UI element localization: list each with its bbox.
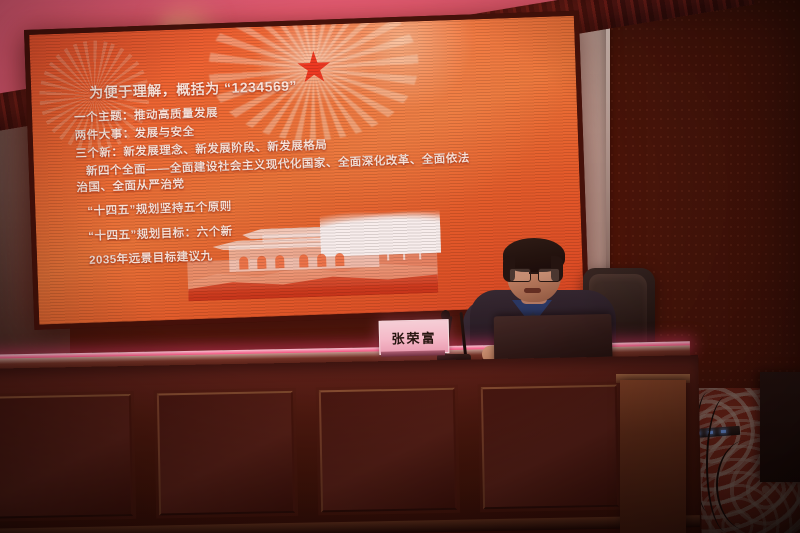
eyeglasses-icon	[508, 268, 560, 280]
conference-hall-photo: 为便于理解，概括为 “1234569” 一个主题：推动高质量发展 两件大事：发展…	[0, 0, 800, 533]
slide-text-block: 为便于理解，概括为 “1234569” 一个主题：推动高质量发展 两件大事：发展…	[29, 16, 584, 325]
glasses-bridge	[529, 272, 538, 274]
slide-line-6: “十四五”规划坚持五个原则	[87, 198, 232, 219]
podium-panel	[319, 388, 457, 513]
podium-panel	[157, 391, 295, 516]
led-screen-frame: 为便于理解，概括为 “1234569” 一个主题：推动高质量发展 两件大事：发展…	[24, 11, 589, 330]
side-cabinet	[620, 380, 686, 533]
name-placard-text: 张荣富	[391, 327, 436, 347]
lens-left	[509, 268, 531, 282]
cable	[716, 440, 778, 530]
slide-line-1: 一个主题：推动高质量发展	[74, 104, 218, 125]
speaker-mouth	[524, 288, 541, 293]
slide-line-7: “十四五”规划目标：六个新	[88, 223, 233, 244]
lens-right	[538, 268, 560, 282]
slide-title: 为便于理解，概括为 “1234569”	[89, 76, 297, 103]
slide-line-2: 两件大事：发展与安全	[74, 123, 194, 143]
slide-line-5: 治国、全面从严治党	[76, 175, 184, 195]
podium-panel	[0, 394, 133, 519]
slide-line-8: 2035年远景目标建议九	[89, 248, 213, 268]
podium-front	[0, 355, 702, 533]
podium-panel	[481, 385, 619, 510]
led-screen: 为便于理解，概括为 “1234569” 一个主题：推动高质量发展 两件大事：发展…	[29, 16, 584, 325]
